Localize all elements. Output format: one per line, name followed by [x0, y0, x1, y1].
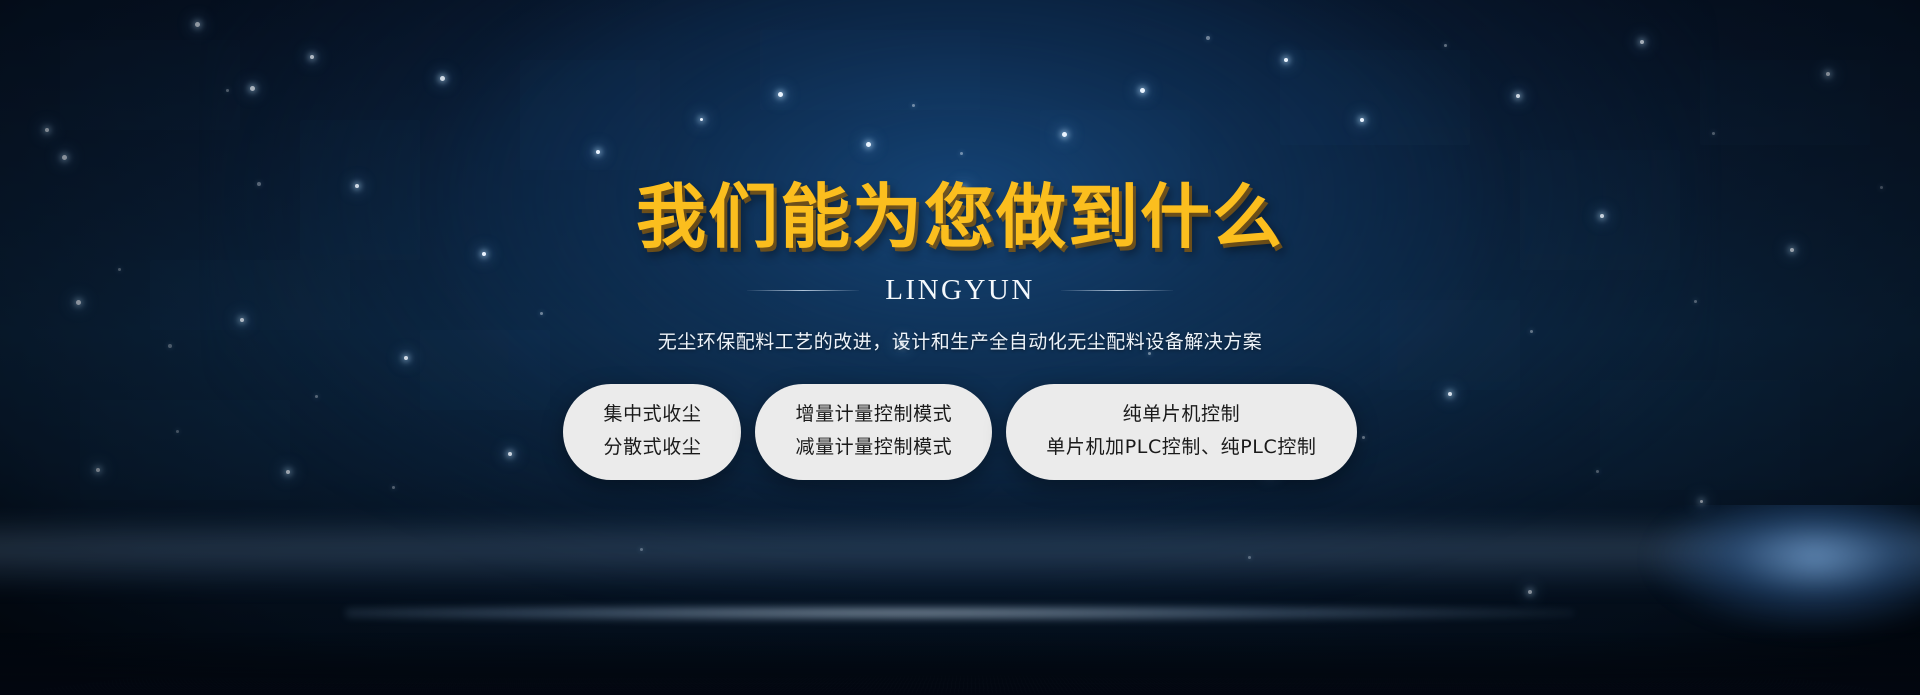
banner-content: 我们能为您做到什么 LINGYUN 无尘环保配料工艺的改进，设计和生产全自动化无…	[0, 0, 1920, 695]
feature-card-dust-collection[interactable]: 集中式收尘 分散式收尘	[563, 384, 741, 480]
hero-banner: 我们能为您做到什么 LINGYUN 无尘环保配料工艺的改进，设计和生产全自动化无…	[0, 0, 1920, 695]
card-line-2: 分散式收尘	[603, 438, 701, 457]
card-line-1: 增量计量控制模式	[795, 405, 952, 424]
card-line-1: 集中式收尘	[603, 405, 701, 424]
divider-left	[747, 290, 859, 291]
feature-card-control-system[interactable]: 纯单片机控制 单片机加PLC控制、纯PLC控制	[1006, 384, 1356, 480]
card-line-2: 减量计量控制模式	[795, 438, 952, 457]
brand-name-en: LINGYUN	[885, 274, 1035, 307]
feature-card-metering-mode[interactable]: 增量计量控制模式 减量计量控制模式	[755, 384, 992, 480]
card-line-2: 单片机加PLC控制、纯PLC控制	[1046, 438, 1316, 457]
feature-card-list: 集中式收尘 分散式收尘 增量计量控制模式 减量计量控制模式 纯单片机控制 单片机…	[563, 384, 1356, 480]
divider-right	[1061, 290, 1173, 291]
card-line-1: 纯单片机控制	[1123, 405, 1241, 424]
brand-subtitle-row: LINGYUN	[747, 274, 1173, 307]
page-description: 无尘环保配料工艺的改进，设计和生产全自动化无尘配料设备解决方案	[658, 327, 1263, 354]
page-title: 我们能为您做到什么	[636, 182, 1284, 252]
